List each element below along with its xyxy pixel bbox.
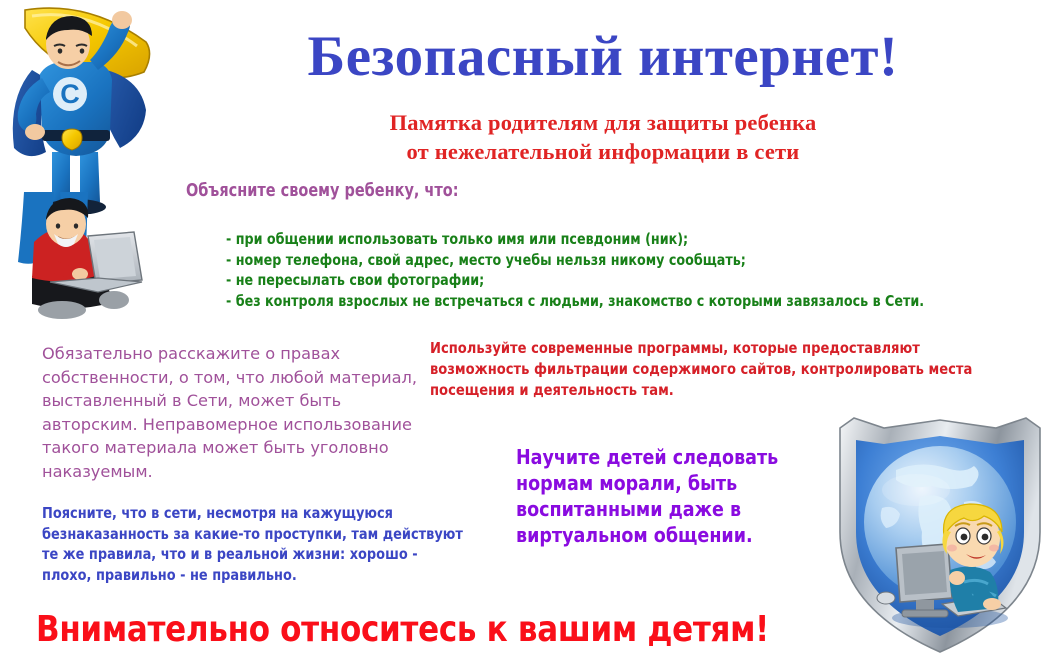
page-subtitle: Памятка родителям для защиты ребенка от … <box>188 108 1018 166</box>
list-item: - при общении использовать только имя ил… <box>226 229 989 250</box>
internet-safety-poster: C <box>0 0 1058 667</box>
safety-tips-list: - при общении использовать только имя ил… <box>226 229 1046 311</box>
page-title: Безопасный интернет! <box>188 26 1018 88</box>
copyright-rights-paragraph: Обязательно расскажите о правах собствен… <box>42 342 417 483</box>
moral-norms-paragraph: Научите детей следовать нормам морали, б… <box>516 444 820 548</box>
explain-heading: Объясните своему ребенку, что: <box>186 180 459 202</box>
hero-emblem-letter: C <box>60 79 80 109</box>
bottom-call-to-action: Внимательно относитесь к вашим детям! <box>36 608 769 652</box>
list-item: - номер телефона, свой адрес, место учеб… <box>226 250 989 271</box>
list-item: - без контроля взрослых не встречаться с… <box>226 291 989 312</box>
filtering-software-paragraph: Используйте современные программы, котор… <box>430 338 975 401</box>
online-responsibility-paragraph: Поясните, что в сети, несмотря на кажущу… <box>42 503 470 585</box>
list-item: - не пересылать свои фотографии; <box>226 270 989 291</box>
superhero-with-shield-illustration: C <box>0 2 170 214</box>
boy-with-laptop-illustration <box>2 192 180 332</box>
shield-globe-boy-computer-illustration <box>824 412 1056 658</box>
